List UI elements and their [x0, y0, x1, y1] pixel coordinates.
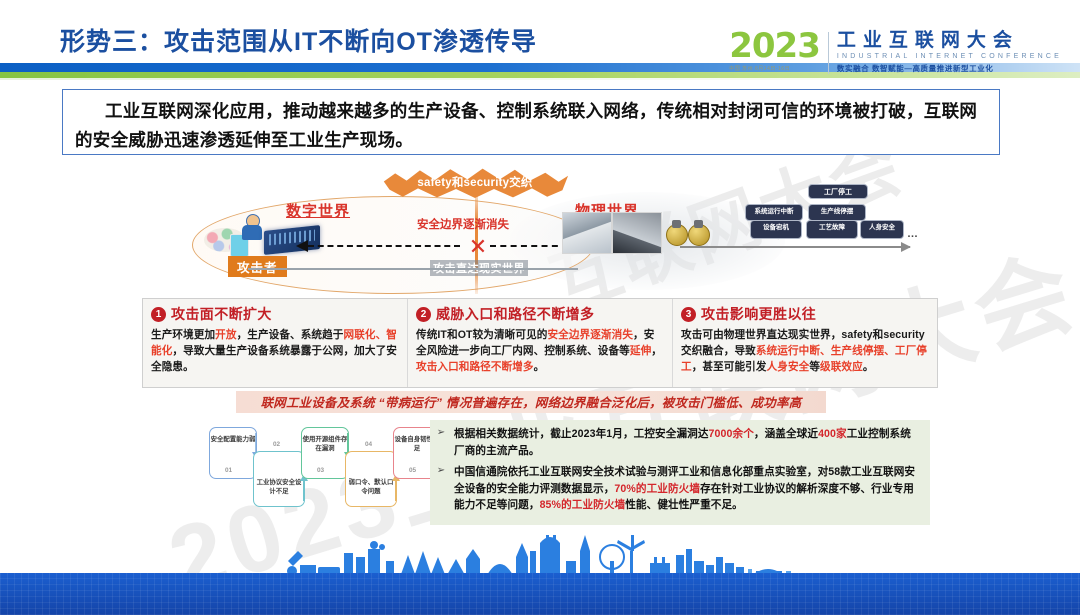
risk-card-3-body: 攻击可由物理世界直达现实世界，safety和security交织融合，导致系统运… — [681, 327, 929, 375]
factory-photo-2 — [612, 212, 662, 254]
flow-arrow-4-icon — [395, 481, 396, 501]
impact-box-system-interrupt: 系统运行中断 — [745, 204, 803, 221]
risk-card-1-header: 1 攻击面不断扩大 — [151, 304, 399, 324]
valve-icon-2 — [688, 224, 710, 246]
cross-mark-icon: ✕ — [468, 238, 488, 258]
statistic-text-1: 根据相关数据统计，截止2023年1月，工控安全漏洞达7000余个，涵盖全球近40… — [454, 426, 920, 459]
impact-chain-axis-arrow-icon — [680, 246, 910, 248]
flow-box-03: 使用开源组件存在漏洞 — [301, 427, 349, 479]
statistic-item-1: ➢ 根据相关数据统计，截止2023年1月，工控安全漏洞达7000余个，涵盖全球近… — [434, 426, 920, 459]
weakness-flow: 安全配置能力弱 01 工业协议安全设计不足 02 使用开源组件存在漏洞 03 弱… — [205, 425, 440, 525]
risk-card-2-title: 威胁入口和路径不断增多 — [436, 304, 594, 324]
avatar-body — [242, 225, 262, 240]
impact-box-device-down: 设备宕机 — [750, 220, 802, 239]
risk-card-1-body: 生产环境更加开放，生产设备、系统趋于网联化、智能化，导致大量生产设备系统暴露于公… — [151, 327, 399, 375]
flow-arrow-3-icon — [347, 433, 348, 453]
logo-tagline: 数实融合 数智赋能—高质量推进新型工业化 — [837, 63, 1062, 74]
bullet-marker-icon-1: ➢ — [434, 426, 448, 459]
valve-icon-1 — [666, 224, 688, 246]
flow-num-04: 04 — [365, 441, 372, 448]
flow-num-02: 02 — [273, 441, 280, 448]
risk-card-1: 1 攻击面不断扩大 生产环境更加开放，生产设备、系统趋于网联化、智能化，导致大量… — [143, 299, 407, 387]
summary-banner: 联网工业设备及系统 “带病运行” 情况普遍存在，网络边界融合泛化后，被攻击门槛低… — [236, 391, 826, 413]
risk-cards: 1 攻击面不断扩大 生产环境更加开放，生产设备、系统趋于网联化、智能化，导致大量… — [142, 298, 938, 388]
impact-box-factory-stop: 工厂停工 — [808, 184, 868, 199]
flow-arrow-1-icon — [255, 433, 256, 453]
impact-chain-ellipsis: … — [907, 228, 918, 240]
logo-conference-name-en: INDUSTRIAL INTERNET CONFERENCE — [837, 53, 1062, 60]
logo-year: 2023 — [729, 30, 820, 62]
logo-text-block: 工业互联网大会 INDUSTRIAL INTERNET CONFERENCE 数… — [837, 30, 1062, 74]
burst-label: safety和security交织 — [385, 174, 565, 190]
footer-decoration — [0, 535, 1080, 615]
header-rule-thin — [0, 78, 1080, 80]
risk-card-3-title: 攻击影响更胜以往 — [701, 304, 816, 324]
slide-root: 互联网大会 形势三：攻击范围从IT不断向OT渗透传导 2023 中国 苏州 6月… — [0, 0, 1080, 615]
flow-arrow-2-icon — [303, 481, 304, 501]
concept-diagram: 数字世界 物理世界 攻击者 safety和security交织 安全边界逐渐消失… — [180, 172, 920, 294]
logo-conference-name-cn: 工业互联网大会 — [837, 30, 1062, 51]
logo-year-block: 2023 中国 苏州 6月14日-16日 — [729, 30, 820, 72]
summary-banner-text: 联网工业设备及系统 “带病运行” 情况普遍存在，网络边界融合泛化后，被攻击门槛低… — [261, 393, 802, 411]
statistic-item-2: ➢ 中国信通院依托工业互联网安全技术试验与测评工业和信息化部重点实验室，对58款… — [434, 464, 920, 514]
impact-box-personal-safety: 人身安全 — [860, 220, 904, 239]
page-title: 形势三：攻击范围从IT不断向OT渗透传导 — [60, 22, 537, 58]
statistic-text-2: 中国信通院依托工业互联网安全技术试验与测评工业和信息化部重点实验室，对58款工业… — [454, 464, 920, 514]
conference-logo: 2023 中国 苏州 6月14日-16日 工业互联网大会 INDUSTRIAL … — [729, 30, 1062, 76]
risk-card-2: 2 威胁入口和路径不断增多 传统IT和OT较为清晰可见的安全边界逐渐消失，安全风… — [407, 299, 672, 387]
arrow-left-head-icon — [296, 240, 308, 252]
risk-card-3-header: 3 攻击影响更胜以往 — [681, 304, 929, 324]
logo-divider — [828, 32, 829, 74]
flow-num-03: 03 — [317, 467, 324, 474]
bullet-marker-icon-2: ➢ — [434, 464, 448, 514]
factory-photo-1 — [562, 212, 612, 254]
diagram-baseline — [248, 268, 578, 270]
flow-num-05: 05 — [409, 467, 416, 474]
impact-chain: 工厂停工 系统运行中断 生产线停摆 设备宕机 工艺故障 人身安全 … — [740, 184, 920, 270]
arrow-dash-left — [308, 245, 460, 247]
impact-box-line-halt: 生产线停摆 — [808, 204, 866, 221]
flow-box-02: 工业协议安全设计不足 — [253, 451, 305, 507]
risk-card-2-body: 传统IT和OT较为清晰可见的安全边界逐渐消失，安全风险进一步向工厂内网、控制系统… — [416, 327, 664, 375]
flow-box-01: 安全配置能力弱 — [209, 427, 257, 479]
city-skyline-icon — [0, 535, 1080, 577]
callout-box: 工业互联网深化应用，推动越来越多的生产设备、控制系统联入网络，传统相对封闭可信的… — [62, 89, 1000, 155]
footer-base-band — [0, 573, 1080, 615]
risk-card-3-number: 3 — [681, 307, 696, 322]
attacker-label: 攻击者 — [228, 256, 287, 277]
risk-card-1-title: 攻击面不断扩大 — [171, 304, 272, 324]
logo-year-subtitle: 中国 苏州 6月14日-16日 — [729, 65, 820, 72]
statistics-panel: ➢ 根据相关数据统计，截止2023年1月，工控安全漏洞达7000余个，涵盖全球近… — [430, 420, 930, 525]
impact-box-process-fault: 工艺故障 — [806, 220, 858, 239]
risk-card-2-header: 2 威胁入口和路径不断增多 — [416, 304, 664, 324]
risk-card-3: 3 攻击影响更胜以往 攻击可由物理世界直达现实世界，safety和securit… — [672, 299, 937, 387]
boundary-label: 安全边界逐渐消失 — [417, 216, 509, 232]
hacker-avatar-icon — [242, 214, 262, 240]
flow-num-01: 01 — [225, 467, 232, 474]
digital-world-label: 数字世界 — [286, 200, 350, 221]
risk-card-2-number: 2 — [416, 307, 431, 322]
callout-text: 工业互联网深化应用，推动越来越多的生产设备、控制系统联入网络，传统相对封闭可信的… — [75, 97, 987, 155]
risk-card-1-number: 1 — [151, 307, 166, 322]
flow-box-04: 弱口令、默认口令问题 — [345, 451, 397, 507]
